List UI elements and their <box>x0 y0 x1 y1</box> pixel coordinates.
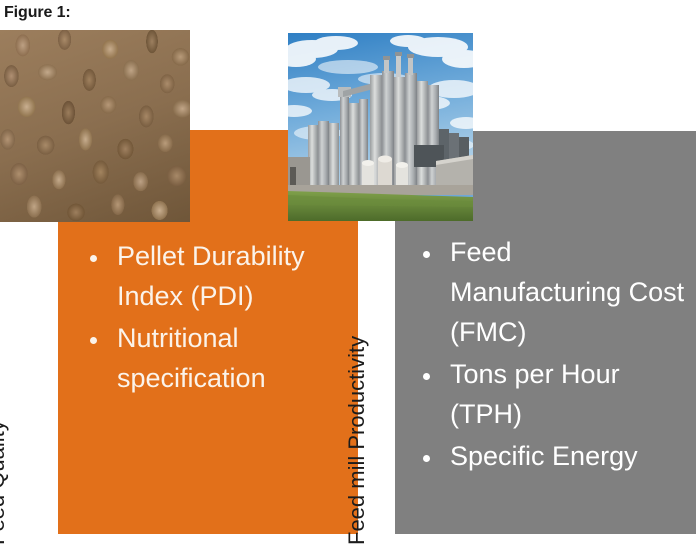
list-item: Nutritional specification <box>84 318 346 398</box>
list-item: Specific Energy <box>417 436 685 476</box>
list-item-label: Feed Manufacturing Cost (FMC) <box>450 237 684 347</box>
list-item: Feed Manufacturing Cost (FMC) <box>417 232 685 352</box>
feed-mill-illustration <box>288 33 473 221</box>
figure-container: Figure 1: Pellet Durability Index (PDI) … <box>0 0 696 534</box>
figure-title: Figure 1: <box>4 2 71 24</box>
list-item: Pellet Durability Index (PDI) <box>84 236 346 316</box>
bullet-dot-icon <box>423 373 430 380</box>
feed-quality-bullet-list: Pellet Durability Index (PDI) Nutritiona… <box>84 236 346 400</box>
feed-pellets-photo <box>0 30 190 222</box>
list-item: Tons per Hour (TPH) <box>417 354 685 434</box>
feed-mill-productivity-axis-label: Feed mill Productivity <box>344 336 370 545</box>
list-item-label: Specific Energy <box>450 441 638 471</box>
bullet-dot-icon <box>90 255 97 262</box>
list-item-label: Tons per Hour (TPH) <box>450 359 620 429</box>
list-item-label: Pellet Durability Index (PDI) <box>117 241 305 311</box>
feed-mill-productivity-bullet-list: Feed Manufacturing Cost (FMC) Tons per H… <box>417 232 685 478</box>
bullet-dot-icon <box>90 337 97 344</box>
bullet-dot-icon <box>423 251 430 258</box>
list-item-label: Nutritional specification <box>117 323 266 393</box>
feed-mill-photo <box>288 33 473 221</box>
bullet-dot-icon <box>423 455 430 462</box>
feed-quality-axis-label: Feed Quality <box>0 420 10 545</box>
